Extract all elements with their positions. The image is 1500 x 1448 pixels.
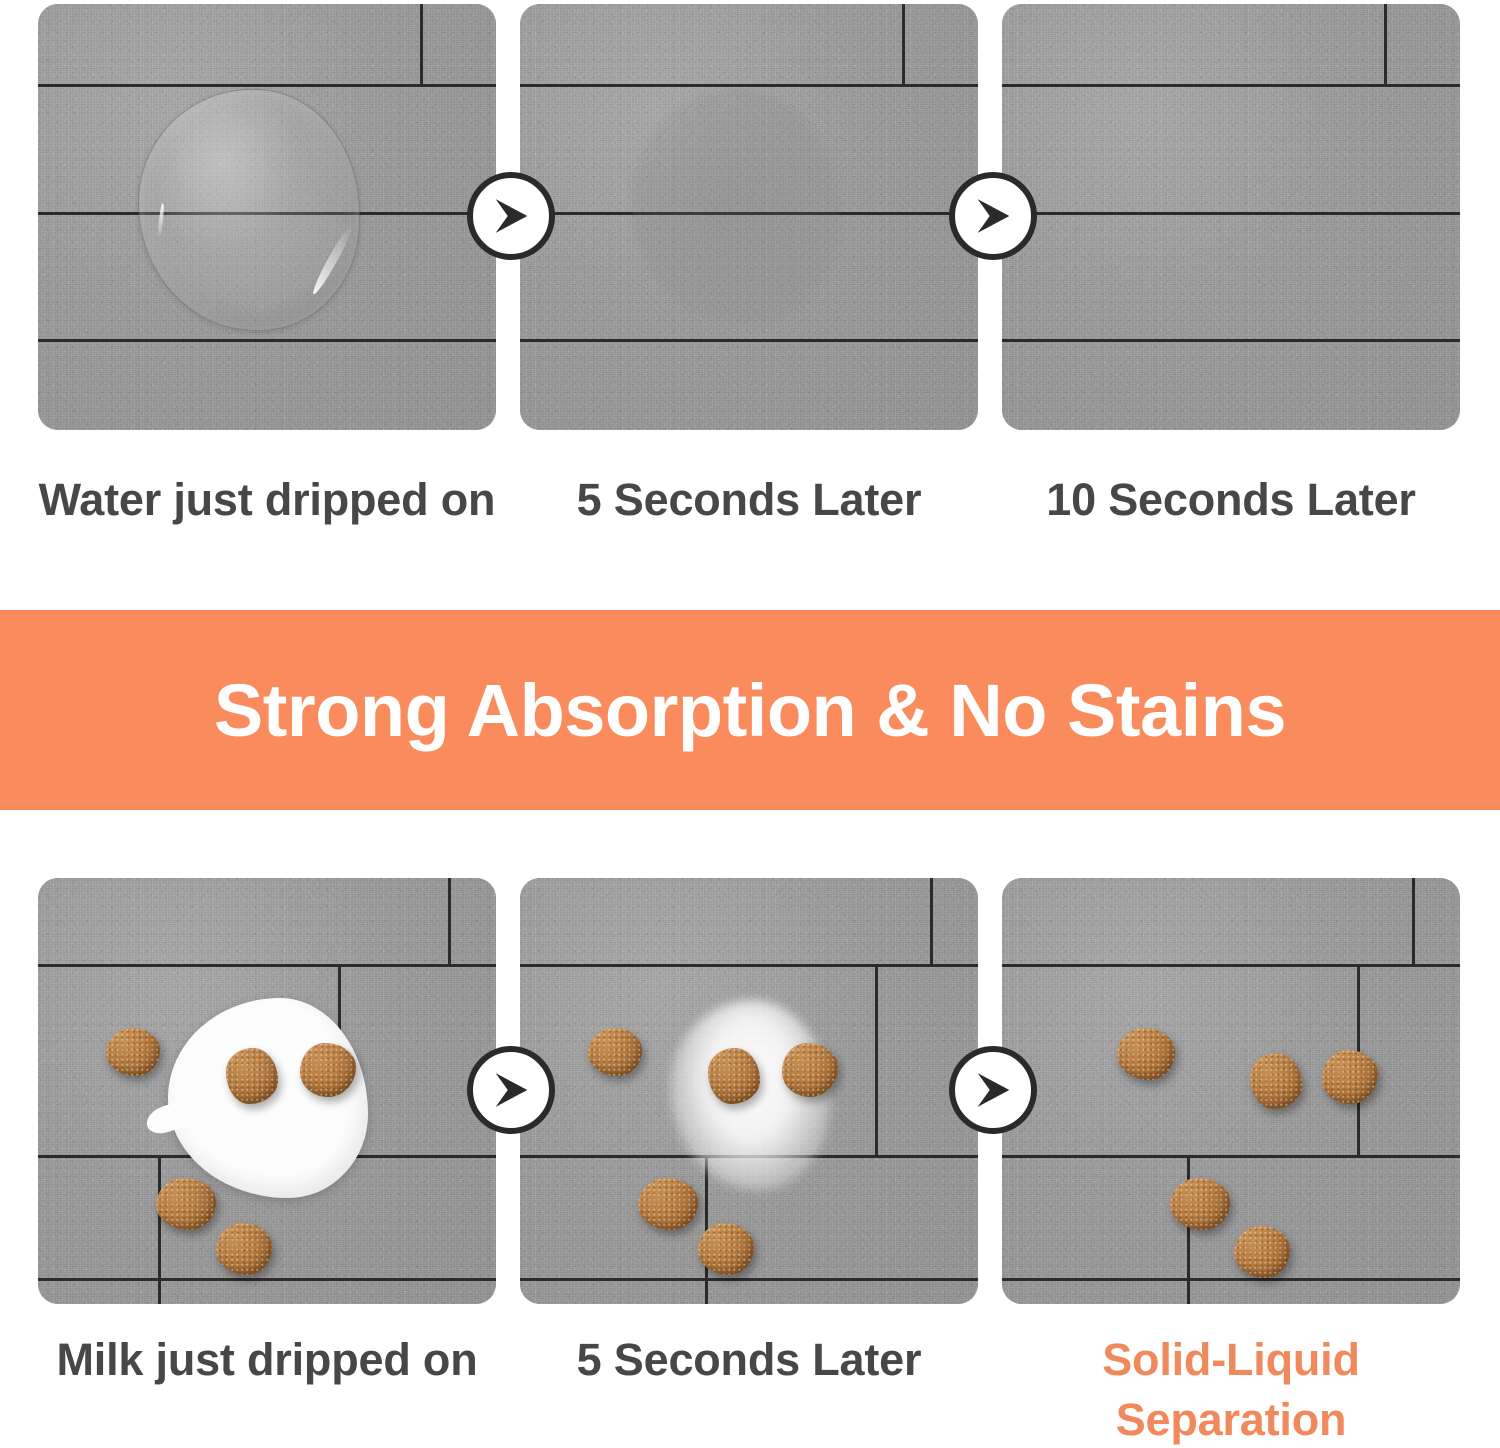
grout-line [38, 84, 496, 87]
water-panel-1 [38, 4, 496, 430]
grout-line [1187, 1155, 1190, 1304]
kibble-piece [1170, 1178, 1230, 1230]
water-test-row: Water just dripped on 5 Seconds Later 10… [0, 0, 1500, 600]
kibble-piece [698, 1223, 754, 1275]
grout-line [520, 964, 978, 967]
infographic-page: Water just dripped on 5 Seconds Later 10… [0, 0, 1500, 1448]
chevron-right-icon [488, 1067, 534, 1113]
grout-line [1002, 964, 1460, 967]
arrow-milk-2 [949, 1046, 1037, 1134]
headline-text: Strong Absorption & No Stains [214, 668, 1286, 753]
grout-line [1384, 4, 1387, 84]
milk-test-row: Milk just dripped on 5 Seconds Later Sol… [0, 838, 1500, 1448]
kibble-piece [638, 1178, 698, 1230]
grout-line [448, 878, 451, 964]
water-panel-3-caption: 10 Seconds Later [1000, 470, 1462, 530]
grout-line [875, 964, 878, 1155]
kibble-piece [156, 1178, 216, 1230]
arrow-water-1 [467, 172, 555, 260]
kibble-piece [226, 1048, 278, 1104]
water-panel-2 [520, 4, 978, 430]
milk-panel-2-caption: 5 Seconds Later [518, 1330, 980, 1390]
kibble-piece [708, 1048, 760, 1104]
grout-line [1002, 84, 1460, 87]
mat-surface [1002, 878, 1460, 1304]
kibble-piece [588, 1028, 642, 1076]
grout-line [1002, 1155, 1460, 1158]
milk-panel-1 [38, 878, 496, 1304]
grout-line [520, 1278, 978, 1281]
grout-line [38, 339, 496, 342]
grout-line [1002, 212, 1460, 215]
kibble-piece [106, 1028, 160, 1076]
grout-line [158, 1155, 161, 1304]
milk-panel-3 [1002, 878, 1460, 1304]
mat-surface [1002, 4, 1460, 430]
grout-line [420, 4, 423, 84]
grout-line [1002, 1278, 1460, 1281]
chevron-right-icon [488, 193, 534, 239]
grout-line [1412, 878, 1415, 964]
arrow-water-2 [949, 172, 1037, 260]
grout-line [902, 4, 905, 84]
grout-line [520, 84, 978, 87]
kibble-piece [1234, 1226, 1290, 1278]
milk-panel-2 [520, 878, 978, 1304]
chevron-right-icon [970, 193, 1016, 239]
kibble-piece [1250, 1053, 1302, 1109]
grout-line [520, 339, 978, 342]
grout-line [38, 1278, 496, 1281]
grout-line [1002, 339, 1460, 342]
water-panel-1-caption: Water just dripped on [36, 470, 498, 530]
water-panel-2-caption: 5 Seconds Later [518, 470, 980, 530]
headline-banner: Strong Absorption & No Stains [0, 610, 1500, 810]
milk-panel-3-caption: Solid-Liquid Separation [1000, 1330, 1462, 1448]
grout-line [38, 964, 496, 967]
water-panel-3 [1002, 4, 1460, 430]
grout-line [930, 878, 933, 964]
chevron-right-icon [970, 1067, 1016, 1113]
milk-panel-1-caption: Milk just dripped on [36, 1330, 498, 1390]
kibble-piece [216, 1223, 272, 1275]
arrow-milk-1 [467, 1046, 555, 1134]
kibble-piece [1117, 1028, 1175, 1080]
